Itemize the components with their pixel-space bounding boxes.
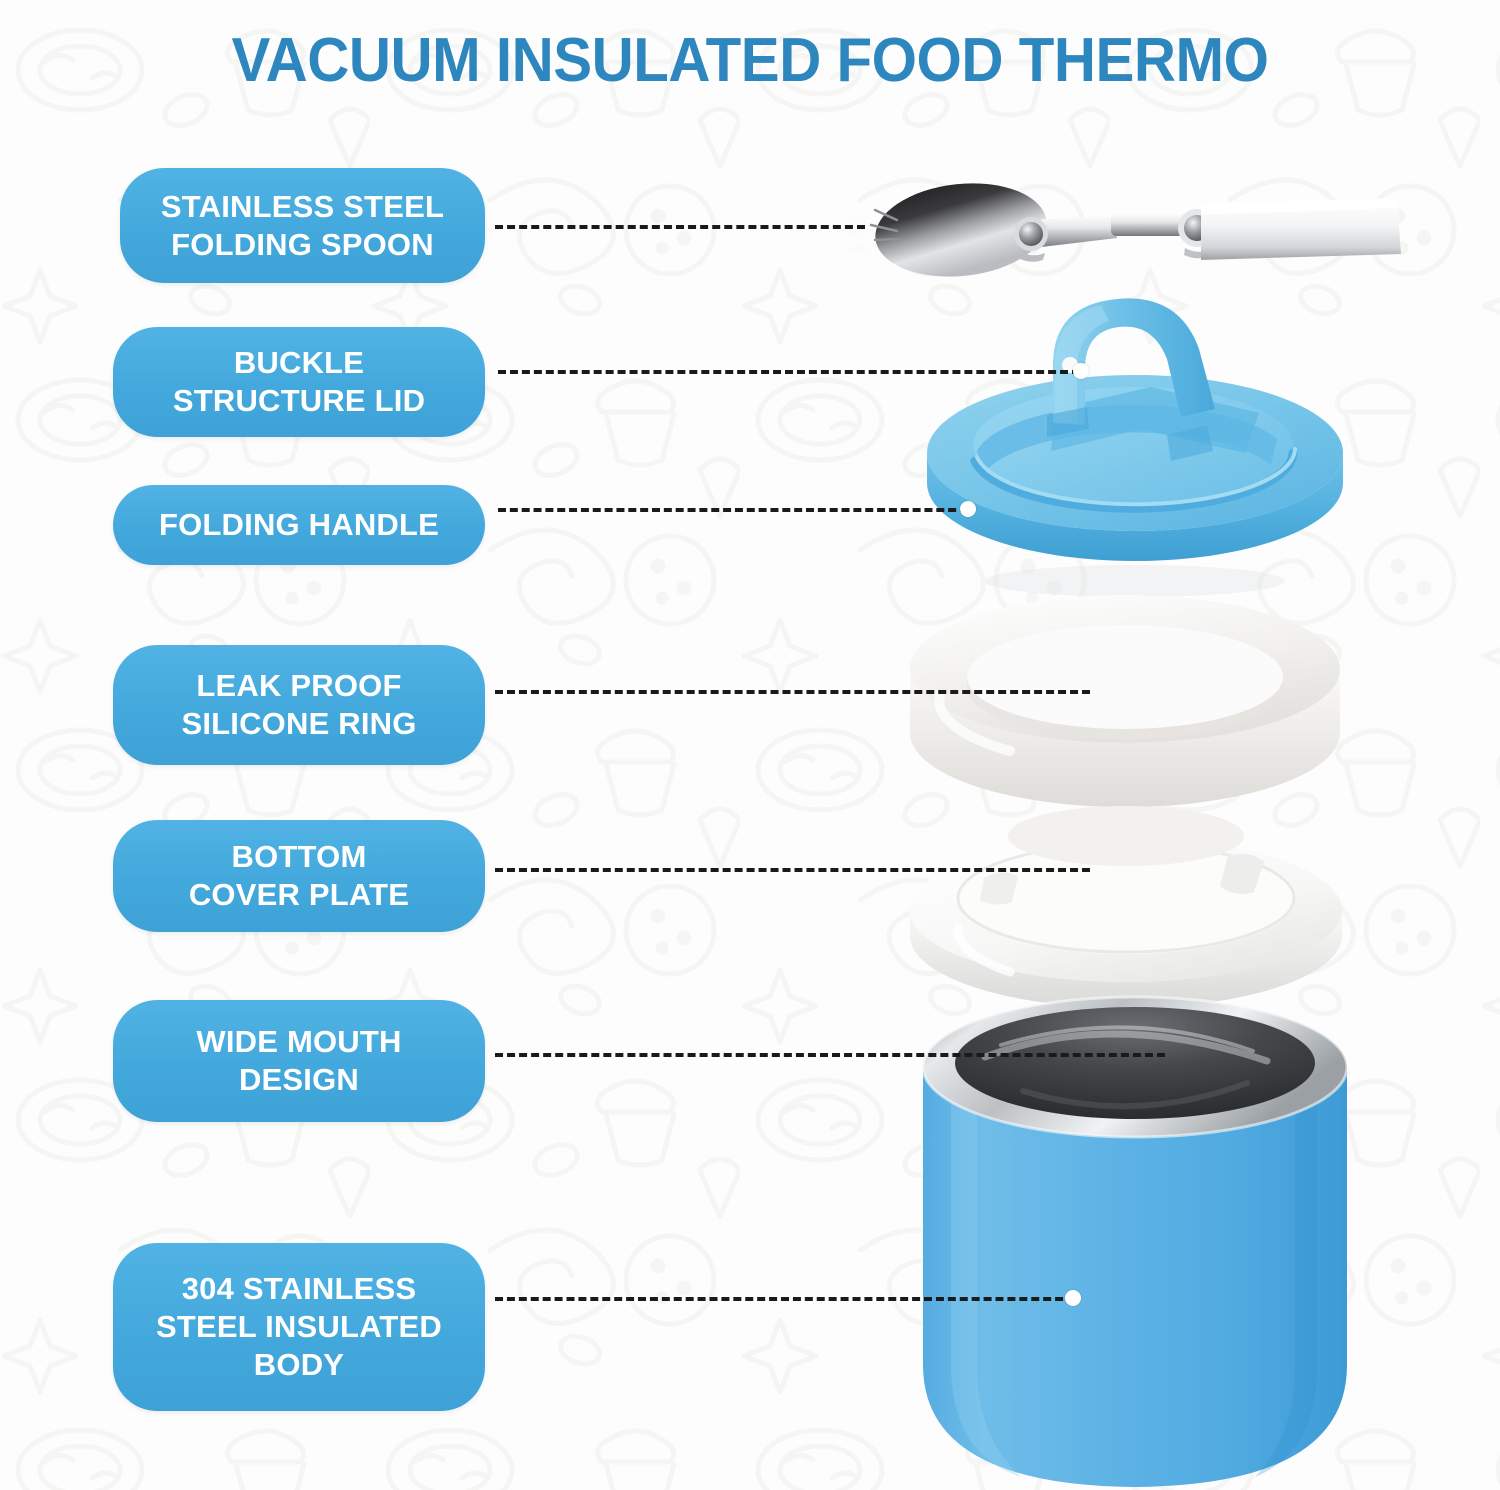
leader-line-304-stainless-steel-insulated-body — [495, 1297, 1075, 1301]
leader-dot-buckle-structure-lid — [1073, 363, 1089, 379]
leader-line-wide-mouth-design — [495, 1053, 1165, 1057]
leader-dot-folding-handle — [960, 501, 976, 517]
callout-buckle-structure-lid[interactable]: BUCKLE STRUCTURE LID — [113, 327, 485, 437]
callout-line: STAINLESS STEEL — [161, 188, 444, 226]
silicone-ring-illustration — [900, 585, 1350, 820]
insulated-body-illustration — [915, 995, 1355, 1490]
page-title: VACUUM INSULATED FOOD THERMO — [45, 28, 1455, 93]
callout-leak-proof-silicone-ring[interactable]: LEAK PROOF SILICONE RING — [113, 645, 485, 765]
leader-line-bottom-cover-plate — [495, 868, 1090, 872]
callout-wide-mouth-design[interactable]: WIDE MOUTH DESIGN — [113, 1000, 485, 1122]
callout-line: LEAK PROOF — [181, 667, 416, 705]
leader-line-leak-proof-silicone-ring — [495, 690, 1090, 694]
leader-line-stainless-steel-folding-spoon — [495, 225, 865, 229]
callout-line: STRUCTURE LID — [173, 382, 425, 420]
leader-line-buckle-structure-lid — [498, 370, 1080, 374]
callout-line: BODY — [156, 1346, 442, 1384]
lid-illustration — [905, 285, 1365, 605]
folding-spork-illustration — [845, 168, 1405, 298]
callout-line: DESIGN — [196, 1061, 401, 1099]
callout-line: BOTTOM — [189, 838, 409, 876]
callout-stainless-steel-folding-spoon[interactable]: STAINLESS STEEL FOLDING SPOON — [120, 168, 485, 283]
callout-line: SILICONE RING — [181, 705, 416, 743]
callout-line: FOLDING SPOON — [161, 226, 444, 264]
callout-line: STEEL INSULATED — [156, 1308, 442, 1346]
callout-folding-handle[interactable]: FOLDING HANDLE — [113, 485, 485, 565]
callout-bottom-cover-plate[interactable]: BOTTOM COVER PLATE — [113, 820, 485, 932]
callout-line: 304 STAINLESS — [156, 1270, 442, 1308]
callout-line: FOLDING HANDLE — [159, 506, 439, 544]
callout-line: WIDE MOUTH — [196, 1023, 401, 1061]
callout-304-stainless-steel-insulated-body[interactable]: 304 STAINLESS STEEL INSULATED BODY — [113, 1243, 485, 1411]
callout-line: BUCKLE — [173, 344, 425, 382]
leader-dot-304-stainless-steel-insulated-body — [1065, 1290, 1081, 1306]
infographic-canvas: VACUUM INSULATED FOOD THERMO — [0, 0, 1500, 1490]
bottom-cover-plate-illustration — [898, 800, 1353, 1020]
callout-line: COVER PLATE — [189, 876, 409, 914]
leader-line-folding-handle — [498, 508, 968, 512]
